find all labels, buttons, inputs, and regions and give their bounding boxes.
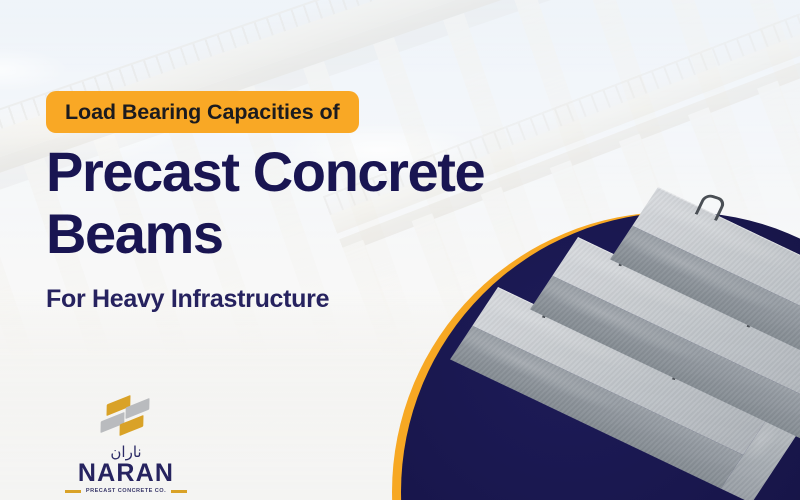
brand-tagline: PRECAST CONCRETE CO. bbox=[86, 488, 166, 494]
eyebrow-badge: Load Bearing Capacities of bbox=[46, 91, 359, 133]
brand-name: NARAN bbox=[56, 460, 196, 487]
page-subtitle: For Heavy Infrastructure bbox=[46, 285, 329, 314]
tagline-rule-right bbox=[171, 490, 187, 493]
brand-tagline-row: PRECAST CONCRETE CO. bbox=[56, 488, 196, 494]
tagline-rule-left bbox=[65, 490, 81, 493]
brand-logo[interactable]: ناران NARAN PRECAST CONCRETE CO. bbox=[56, 397, 196, 494]
naran-diamond-mark-icon bbox=[96, 397, 156, 439]
banner-root: Load Bearing Capacities of Precast Concr… bbox=[0, 0, 800, 500]
page-title-line-1: Precast Concrete bbox=[46, 141, 666, 203]
eyebrow-badge-label: Load Bearing Capacities of bbox=[65, 100, 340, 125]
brand-name-arabic: ناران bbox=[56, 444, 196, 460]
